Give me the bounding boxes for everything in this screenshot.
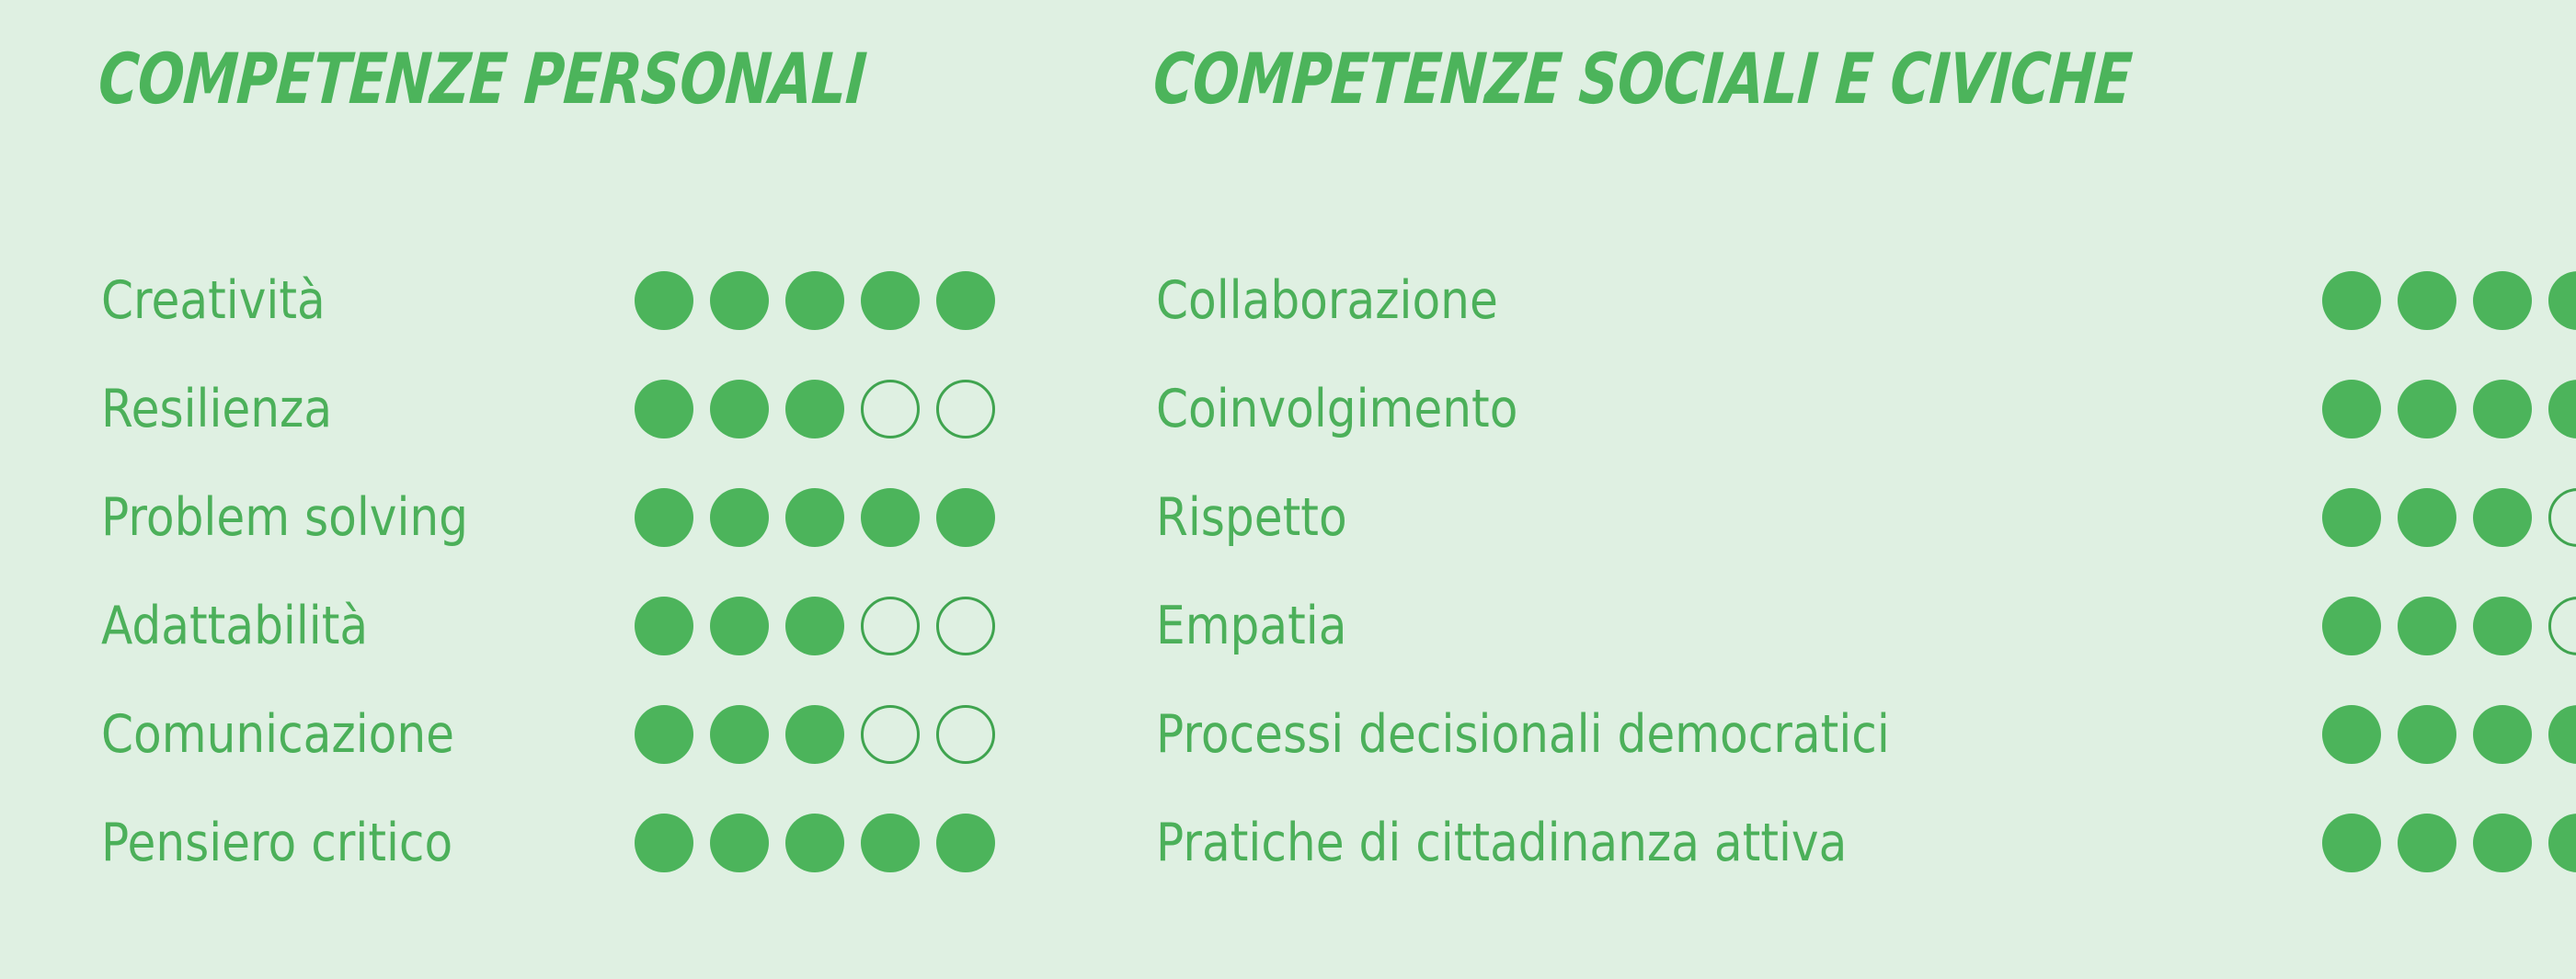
filled-circle-icon bbox=[710, 597, 769, 655]
skill-rating bbox=[2322, 380, 2576, 438]
skill-label: Problem solving bbox=[101, 492, 468, 544]
filled-circle-icon bbox=[785, 814, 844, 872]
filled-circle-icon bbox=[785, 488, 844, 547]
filled-circle-icon bbox=[861, 271, 920, 330]
skill-rating bbox=[2322, 705, 2576, 764]
filled-circle-icon bbox=[936, 271, 995, 330]
skill-label: Creatività bbox=[101, 275, 326, 327]
skill-rating bbox=[635, 271, 995, 330]
skill-row: Pratiche di cittadinanza attiva bbox=[1145, 789, 2576, 897]
skill-label: Processi decisionali democratici bbox=[1156, 709, 1890, 761]
filled-circle-icon bbox=[710, 271, 769, 330]
filled-circle-icon bbox=[785, 380, 844, 438]
filled-circle-icon bbox=[2473, 705, 2532, 764]
empty-circle-icon bbox=[936, 705, 995, 764]
skill-label: Comunicazione bbox=[101, 709, 454, 761]
filled-circle-icon bbox=[2322, 597, 2381, 655]
filled-circle-icon bbox=[2473, 488, 2532, 547]
skill-row: Adattabilità bbox=[0, 572, 1145, 680]
skills-poster: COMPETENZE PERSONALI Creatività Resilien… bbox=[0, 0, 2576, 979]
skill-rating bbox=[2322, 814, 2576, 872]
filled-circle-icon bbox=[635, 814, 693, 872]
filled-circle-icon bbox=[2398, 380, 2456, 438]
skill-row: Coinvolgimento bbox=[1145, 355, 2576, 463]
filled-circle-icon bbox=[2322, 271, 2381, 330]
empty-circle-icon bbox=[2548, 597, 2576, 655]
skill-label: Coinvolgimento bbox=[1156, 383, 1517, 436]
empty-circle-icon bbox=[861, 597, 920, 655]
filled-circle-icon bbox=[2548, 814, 2576, 872]
filled-circle-icon bbox=[635, 488, 693, 547]
skill-rating bbox=[2322, 271, 2576, 330]
empty-circle-icon bbox=[936, 597, 995, 655]
skills-column-personali: COMPETENZE PERSONALI Creatività Resilien… bbox=[0, 0, 1145, 979]
filled-circle-icon bbox=[2322, 488, 2381, 547]
filled-circle-icon bbox=[2548, 271, 2576, 330]
skill-row: Empatia bbox=[1145, 572, 2576, 680]
filled-circle-icon bbox=[710, 380, 769, 438]
filled-circle-icon bbox=[785, 271, 844, 330]
skill-rating bbox=[2322, 597, 2576, 655]
filled-circle-icon bbox=[2473, 271, 2532, 330]
filled-circle-icon bbox=[2322, 814, 2381, 872]
skill-label: Rispetto bbox=[1156, 492, 1347, 544]
filled-circle-icon bbox=[785, 597, 844, 655]
filled-circle-icon bbox=[635, 380, 693, 438]
skill-row: Pensiero critico bbox=[0, 789, 1145, 897]
filled-circle-icon bbox=[2398, 597, 2456, 655]
skill-row: Creatività bbox=[0, 246, 1145, 355]
skill-row: Comunicazione bbox=[0, 680, 1145, 789]
filled-circle-icon bbox=[2473, 597, 2532, 655]
skill-row: Problem solving bbox=[0, 463, 1145, 572]
skill-rows-personali: Creatività Resilienza bbox=[0, 246, 1145, 897]
empty-circle-icon bbox=[2548, 488, 2576, 547]
skill-label: Pensiero critico bbox=[101, 817, 452, 870]
skill-rating bbox=[635, 814, 995, 872]
filled-circle-icon bbox=[635, 271, 693, 330]
column-title-sociali-civiche: COMPETENZE SOCIALI E CIVICHE bbox=[1151, 44, 2134, 114]
skill-label: Empatia bbox=[1156, 600, 1346, 653]
empty-circle-icon bbox=[861, 380, 920, 438]
skill-rating bbox=[2322, 488, 2576, 547]
filled-circle-icon bbox=[710, 488, 769, 547]
empty-circle-icon bbox=[861, 705, 920, 764]
filled-circle-icon bbox=[635, 705, 693, 764]
filled-circle-icon bbox=[710, 705, 769, 764]
empty-circle-icon bbox=[936, 380, 995, 438]
filled-circle-icon bbox=[710, 814, 769, 872]
skill-label: Adattabilità bbox=[101, 600, 368, 653]
skill-rating bbox=[635, 705, 995, 764]
skill-row: Resilienza bbox=[0, 355, 1145, 463]
skill-row: Collaborazione bbox=[1145, 246, 2576, 355]
skill-label: Pratiche di cittadinanza attiva bbox=[1156, 817, 1847, 870]
filled-circle-icon bbox=[2548, 705, 2576, 764]
column-title-personali: COMPETENZE PERSONALI bbox=[97, 44, 868, 114]
filled-circle-icon bbox=[2398, 705, 2456, 764]
skill-rows-sociali-civiche: Collaborazione Coinvolgimento bbox=[1145, 246, 2576, 897]
filled-circle-icon bbox=[2322, 705, 2381, 764]
filled-circle-icon bbox=[2322, 380, 2381, 438]
filled-circle-icon bbox=[2398, 488, 2456, 547]
filled-circle-icon bbox=[2398, 814, 2456, 872]
skill-row: Processi decisionali democratici bbox=[1145, 680, 2576, 789]
filled-circle-icon bbox=[936, 814, 995, 872]
filled-circle-icon bbox=[2473, 380, 2532, 438]
filled-circle-icon bbox=[635, 597, 693, 655]
skills-column-sociali-civiche: COMPETENZE SOCIALI E CIVICHE Collaborazi… bbox=[1145, 0, 2576, 979]
filled-circle-icon bbox=[861, 814, 920, 872]
skills-columns: COMPETENZE PERSONALI Creatività Resilien… bbox=[0, 0, 2576, 979]
skill-rating bbox=[635, 597, 995, 655]
filled-circle-icon bbox=[785, 705, 844, 764]
skill-rating bbox=[635, 488, 995, 547]
skill-label: Collaborazione bbox=[1156, 275, 1498, 327]
filled-circle-icon bbox=[2473, 814, 2532, 872]
skill-row: Rispetto bbox=[1145, 463, 2576, 572]
filled-circle-icon bbox=[936, 488, 995, 547]
filled-circle-icon bbox=[2548, 380, 2576, 438]
skill-label: Resilienza bbox=[101, 383, 332, 436]
filled-circle-icon bbox=[2398, 271, 2456, 330]
filled-circle-icon bbox=[861, 488, 920, 547]
skill-rating bbox=[635, 380, 995, 438]
